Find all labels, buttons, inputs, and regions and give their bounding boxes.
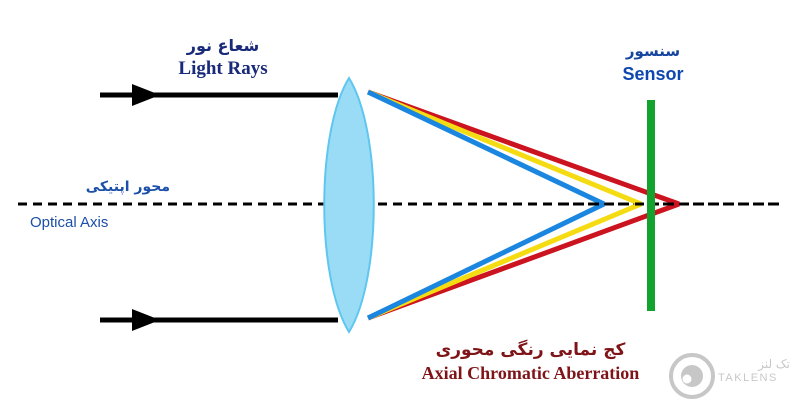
aperture-logo-icon [668,352,716,400]
sensor-label-fa: سنسور [588,42,718,61]
aberration-caption: کج نمایی رنگی محوری Axial Chromatic Aber… [398,340,663,385]
light-rays-label-fa: شعاع نور [128,36,318,56]
sensor-label: سنسور Sensor [588,42,718,85]
convex-lens [324,78,374,332]
light-rays-label-en: Light Rays [128,57,318,81]
sensor-bar [647,100,655,311]
aberration-caption-fa: کج نمایی رنگی محوری [398,340,663,361]
sensor-label-en: Sensor [588,63,718,86]
watermark-text-fa: تک لنز [718,358,790,371]
watermark: تک لنز TAKLENS [668,352,790,408]
aberration-caption-en: Axial Chromatic Aberration [398,362,663,385]
light-rays-label: شعاع نور Light Rays [128,36,318,81]
optical-axis-label-en: Optical Axis [30,214,160,233]
optical-axis-label-fa: محور اپتیکی [40,179,170,197]
diagram-canvas: شعاع نور Light Rays سنسور Sensor محور اپ… [0,0,800,418]
watermark-text-en: TAKLENS [718,372,790,384]
incoming-ray-bottom [100,309,338,331]
watermark-text: تک لنز TAKLENS [718,358,790,384]
incoming-ray-top [100,84,338,106]
